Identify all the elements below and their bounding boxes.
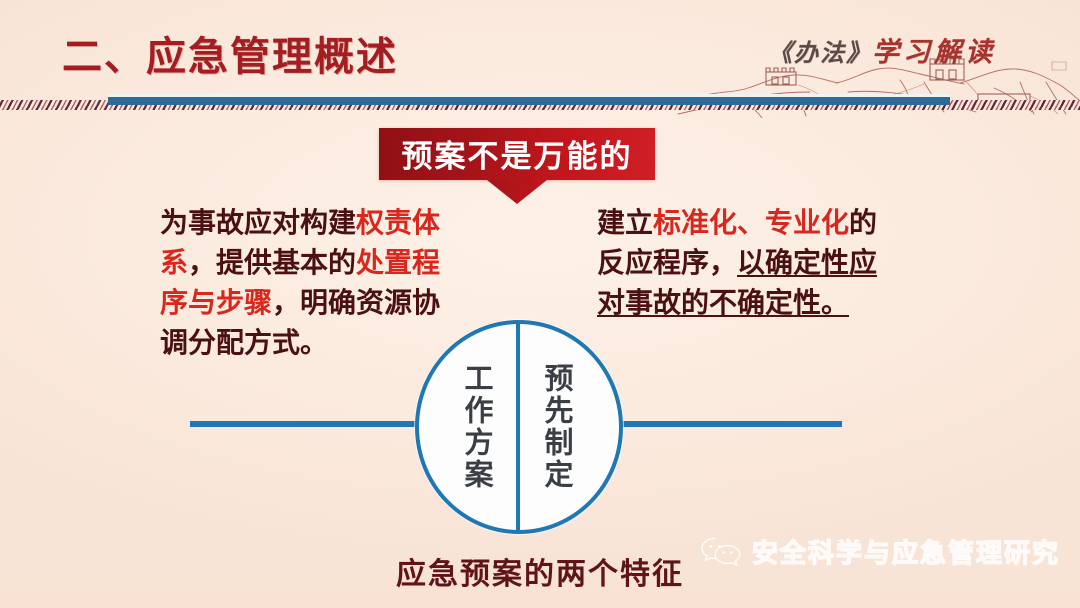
right-text-underline-3: 性。 xyxy=(793,287,849,318)
watermark-text: 安全科学与应急管理研究 xyxy=(752,533,1060,570)
brand-book-name: 《办法》 xyxy=(768,41,872,67)
callout-banner-label: 预案不是万能的 xyxy=(379,128,655,180)
page-title: 二、应急管理概述 xyxy=(62,24,398,82)
left-paragraph: 为事故应对构建权责体系，提供基本的处置程序与步骤，明确资源协调分配方式。 xyxy=(160,203,450,363)
left-text-seg7: ，明确 xyxy=(272,287,356,318)
header-divider xyxy=(0,97,1080,110)
brand-subtitle: 《办法》学习解读 xyxy=(768,30,996,69)
brand-script-text: 学习解读 xyxy=(872,37,996,67)
wechat-icon xyxy=(700,535,742,569)
callout-banner-body: 预案不是万能的 xyxy=(379,128,655,180)
right-text-seg1: 建立 xyxy=(597,207,653,238)
left-text-seg4: ，提供基本的 xyxy=(188,247,356,278)
left-text-seg1: 为事故应对构建 xyxy=(160,207,356,238)
left-text-highlight-1: 权责 xyxy=(356,207,412,238)
right-paragraph: 建立标准化、专业化的反应程序，以确定性应对事故的不确定性。 xyxy=(597,203,897,323)
left-text-highlight-3: 处 xyxy=(356,247,384,278)
right-text-highlight-1: 标准化、专业化 xyxy=(653,207,849,238)
watermark: 安全科学与应急管理研究 xyxy=(700,533,1060,570)
callout-banner: 预案不是万能的 xyxy=(379,128,655,180)
right-text-underline-1: 以确定 xyxy=(737,247,821,278)
divider-blue-bar xyxy=(108,97,950,105)
presentation-slide: 二、应急管理概述 《办法》学习解读 预案不是万能的 为事故应对构建权责体系，提供… xyxy=(0,0,1080,608)
